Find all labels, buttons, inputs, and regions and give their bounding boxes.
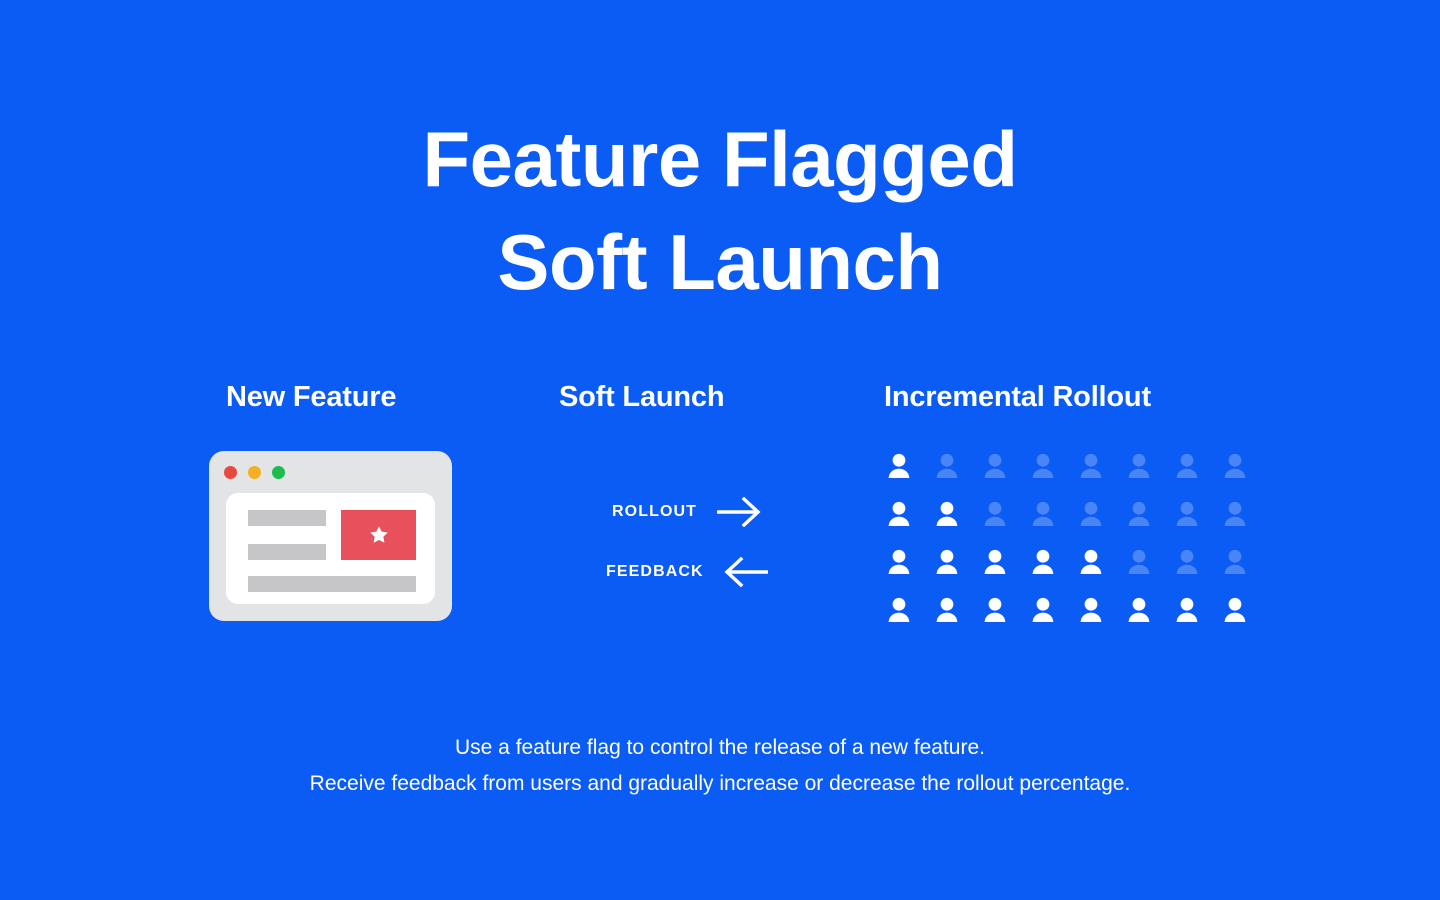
section-heading-new-feature: New Feature — [226, 381, 396, 414]
person-icon-active — [1026, 546, 1074, 594]
person-icon-inactive — [1170, 498, 1218, 546]
person-icon-inactive — [1122, 450, 1170, 498]
close-dot-icon — [224, 466, 237, 479]
person-icon-inactive — [1074, 450, 1122, 498]
section-heading-incremental-rollout: Incremental Rollout — [884, 381, 1151, 414]
person-icon-active — [930, 594, 978, 642]
person-icon-active — [882, 498, 930, 546]
person-icon-inactive — [1026, 450, 1074, 498]
window-traffic-lights — [224, 466, 285, 479]
person-icon-active — [978, 594, 1026, 642]
caption-block: Use a feature flag to control the releas… — [0, 730, 1440, 802]
title-line-2: Soft Launch — [0, 211, 1440, 314]
star-icon — [368, 524, 390, 546]
person-icon-active — [930, 546, 978, 594]
rollout-user-grid — [882, 450, 1266, 642]
placeholder-bar — [248, 576, 416, 592]
person-icon-inactive — [1218, 546, 1266, 594]
person-icon-inactive — [978, 450, 1026, 498]
placeholder-bar — [248, 510, 326, 526]
person-icon-active — [1122, 594, 1170, 642]
arrow-right-icon — [717, 497, 761, 527]
flow-feedback: FEEDBACK — [606, 557, 768, 587]
maximize-dot-icon — [272, 466, 285, 479]
person-icon-inactive — [1026, 498, 1074, 546]
flow-label-rollout: ROLLOUT — [612, 503, 697, 521]
person-icon-active — [882, 594, 930, 642]
slide-canvas: Feature Flagged Soft Launch New Feature … — [0, 0, 1440, 900]
person-icon-inactive — [1122, 498, 1170, 546]
person-icon-active — [1074, 546, 1122, 594]
flow-rollout: ROLLOUT — [612, 497, 761, 527]
person-icon-inactive — [978, 498, 1026, 546]
caption-line-2: Receive feedback from users and graduall… — [0, 766, 1440, 802]
person-icon-inactive — [1218, 498, 1266, 546]
browser-content-area — [226, 493, 435, 604]
section-heading-soft-launch: Soft Launch — [559, 381, 724, 414]
person-icon-inactive — [1074, 498, 1122, 546]
minimize-dot-icon — [248, 466, 261, 479]
content-placeholders — [248, 510, 416, 588]
caption-line-1: Use a feature flag to control the releas… — [0, 730, 1440, 766]
title-line-1: Feature Flagged — [0, 108, 1440, 211]
person-icon-active — [1026, 594, 1074, 642]
person-icon-active — [1170, 594, 1218, 642]
new-feature-card — [341, 510, 416, 560]
placeholder-bar — [248, 544, 326, 560]
arrow-left-icon — [724, 557, 768, 587]
person-icon-active — [882, 450, 930, 498]
person-icon-active — [882, 546, 930, 594]
person-icon-active — [978, 546, 1026, 594]
person-icon-inactive — [1170, 450, 1218, 498]
person-icon-active — [1074, 594, 1122, 642]
person-icon-inactive — [930, 450, 978, 498]
person-icon-inactive — [1122, 546, 1170, 594]
browser-window-mockup — [209, 451, 452, 621]
page-title: Feature Flagged Soft Launch — [0, 108, 1440, 314]
person-icon-active — [930, 498, 978, 546]
flow-label-feedback: FEEDBACK — [606, 563, 704, 581]
person-icon-inactive — [1218, 450, 1266, 498]
person-icon-active — [1218, 594, 1266, 642]
person-icon-inactive — [1170, 546, 1218, 594]
